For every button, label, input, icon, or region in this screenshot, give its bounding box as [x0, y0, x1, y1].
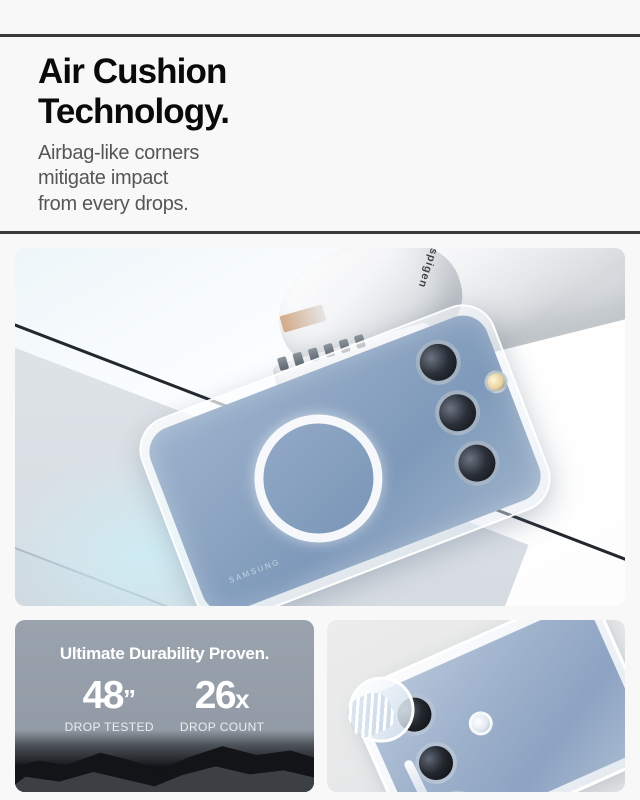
stats-card-title: Ultimate Durability Proven. — [15, 644, 314, 664]
section-divider — [0, 231, 640, 234]
air-cushion-ridges — [342, 687, 398, 741]
durability-stats-card: Ultimate Durability Proven. 48” DROP TES… — [15, 620, 314, 792]
hero-image: spigen SA — [15, 248, 625, 606]
product-feature-page: Air Cushion Technology. Airbag-like corn… — [0, 0, 640, 800]
device-brand-mark: SAMSUNG — [228, 557, 282, 585]
mountain-silhouette — [15, 730, 314, 792]
camera-cluster — [409, 333, 509, 500]
top-divider — [0, 34, 640, 37]
camera-lens-icon — [429, 384, 487, 442]
page-subtitle: Airbag-like corners mitigate impact from… — [38, 141, 368, 217]
bottom-card-row: Ultimate Durability Proven. 48” DROP TES… — [15, 620, 625, 792]
camera-lens-icon — [448, 434, 506, 492]
magsafe-ring — [236, 396, 401, 561]
case-closeup-card — [327, 620, 625, 792]
stat-unit: ” — [123, 684, 136, 714]
stat-drop-tested: 48” DROP TESTED — [65, 676, 154, 734]
flash-icon — [465, 708, 497, 740]
case-corner-photo — [357, 620, 625, 792]
stats-figures: 48” DROP TESTED 26x DROP COUNT — [15, 676, 314, 734]
stat-unit: x — [235, 684, 249, 714]
camera-lens-icon — [430, 784, 485, 792]
headline-block: Air Cushion Technology. Airbag-like corn… — [38, 52, 368, 217]
page-title: Air Cushion Technology. — [38, 52, 368, 131]
stat-drop-count: 26x DROP COUNT — [180, 676, 264, 734]
stat-value: 48” — [65, 676, 154, 715]
camera-lens-icon — [409, 333, 467, 391]
stat-number: 26 — [195, 674, 235, 717]
stat-number: 48 — [83, 674, 123, 717]
stat-value: 26x — [180, 676, 264, 715]
